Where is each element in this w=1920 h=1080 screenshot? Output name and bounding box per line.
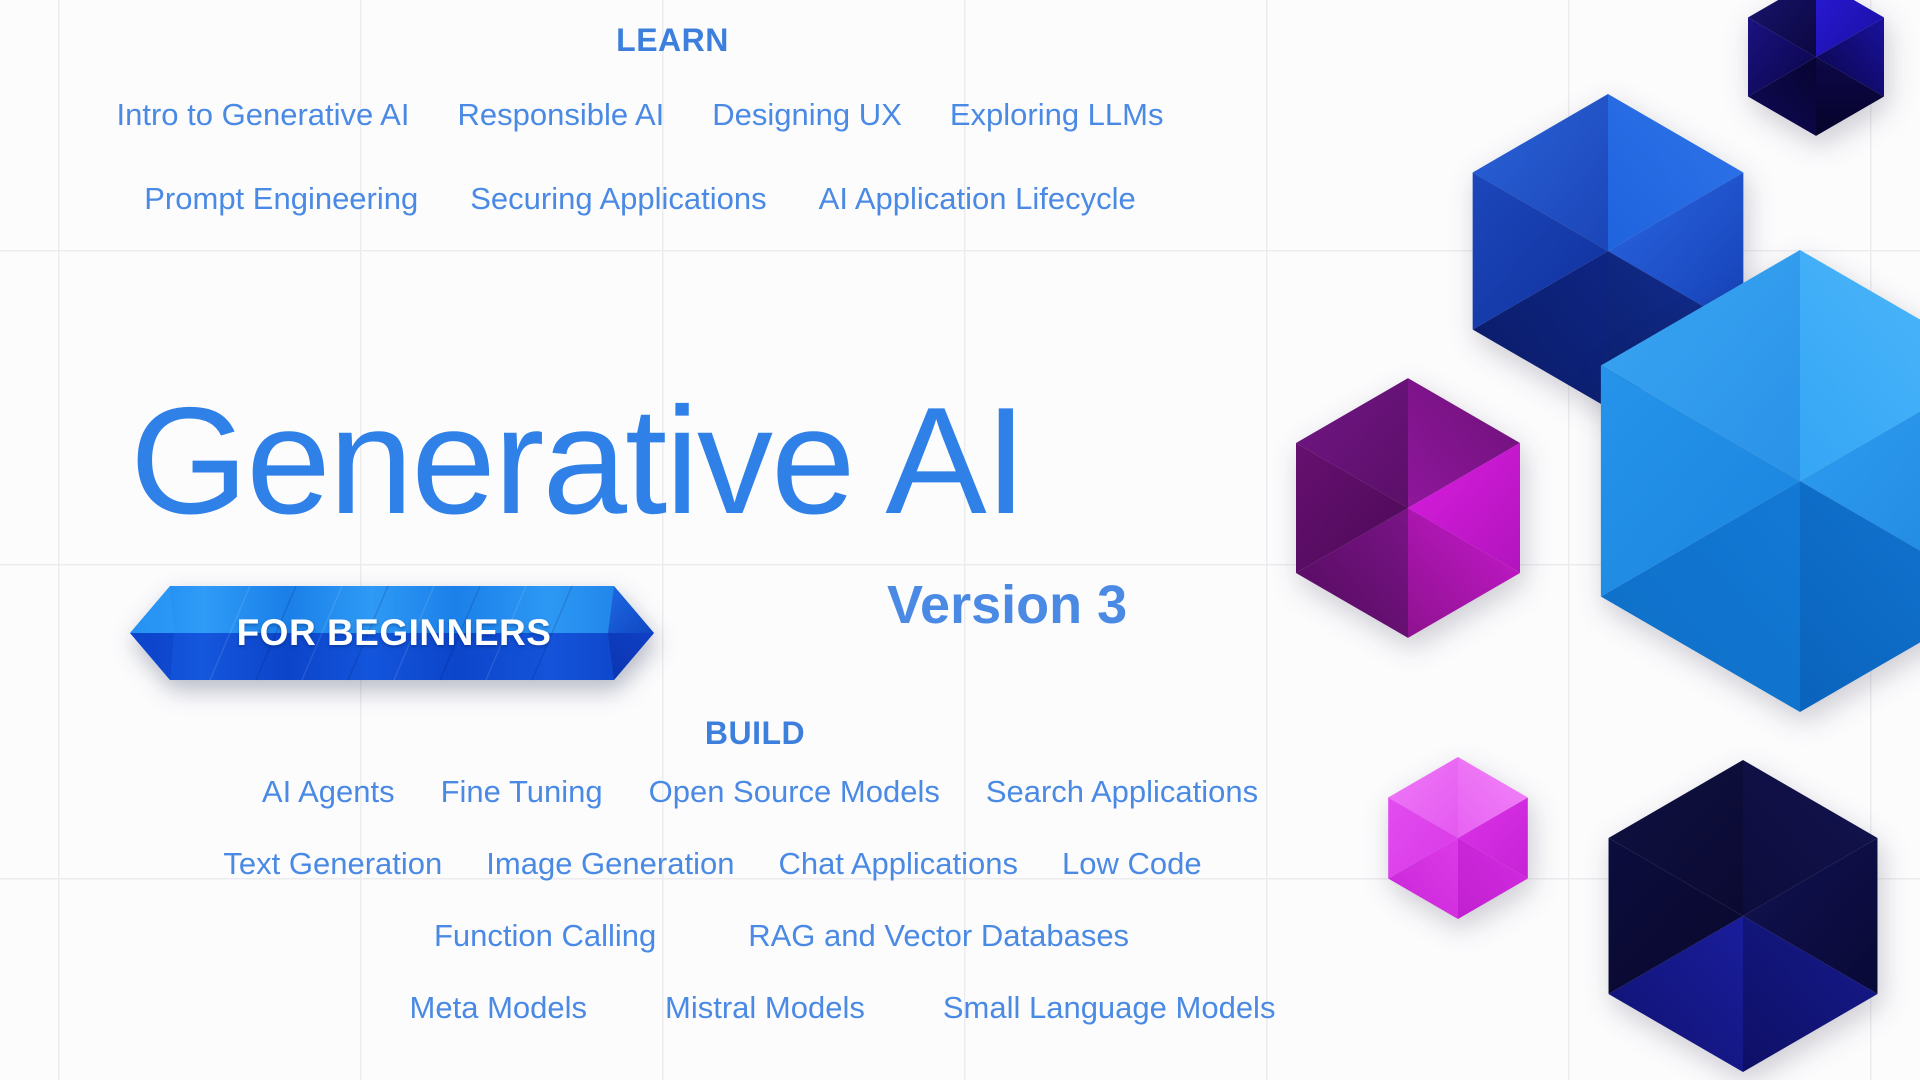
build-topic-row-4: Meta Models Mistral Models Small Languag… [0, 991, 1685, 1025]
for-beginners-ribbon: FOR BEGINNERS [130, 578, 654, 688]
build-topic-image-generation[interactable]: Image Generation [486, 847, 734, 881]
learn-topic-exploring-llms[interactable]: Exploring LLMs [950, 98, 1164, 132]
learn-topic-row-1: Intro to Generative AI Responsible AI De… [0, 98, 1280, 132]
build-topic-rag-and-vector-databases[interactable]: RAG and Vector Databases [748, 919, 1129, 953]
page-title: Generative AI [130, 385, 1025, 537]
learn-topic-responsible-ai[interactable]: Responsible AI [457, 98, 664, 132]
learn-topic-row-2: Prompt Engineering Securing Applications… [0, 182, 1280, 216]
build-topic-small-language-models[interactable]: Small Language Models [943, 991, 1276, 1025]
build-topic-function-calling[interactable]: Function Calling [434, 919, 656, 953]
version-badge: Version 3 [887, 574, 1127, 636]
build-topic-row-2: Text Generation Image Generation Chat Ap… [0, 847, 1425, 881]
learn-topic-ai-application-lifecycle[interactable]: AI Application Lifecycle [819, 182, 1136, 216]
learn-topic-intro-to-generative-ai[interactable]: Intro to Generative AI [117, 98, 410, 132]
build-section-heading: BUILD [0, 715, 1510, 752]
for-beginners-ribbon-label: FOR BEGINNERS [130, 578, 654, 688]
learn-topic-designing-ux[interactable]: Designing UX [712, 98, 902, 132]
build-topic-mistral-models[interactable]: Mistral Models [665, 991, 865, 1025]
build-topic-low-code[interactable]: Low Code [1062, 847, 1202, 881]
learn-topic-securing-applications[interactable]: Securing Applications [470, 182, 766, 216]
poster-content: LEARN Intro to Generative AI Responsible… [0, 0, 1920, 1080]
build-topic-search-applications[interactable]: Search Applications [986, 775, 1258, 809]
build-topic-chat-applications[interactable]: Chat Applications [778, 847, 1018, 881]
build-topic-fine-tuning[interactable]: Fine Tuning [441, 775, 603, 809]
poster-canvas: LEARN Intro to Generative AI Responsible… [0, 0, 1920, 1080]
build-topic-text-generation[interactable]: Text Generation [223, 847, 442, 881]
build-topic-ai-agents[interactable]: AI Agents [262, 775, 395, 809]
build-topic-meta-models[interactable]: Meta Models [410, 991, 587, 1025]
build-topic-row-3: Function Calling RAG and Vector Database… [0, 919, 1563, 953]
build-topic-row-1: AI Agents Fine Tuning Open Source Models… [0, 775, 1520, 809]
learn-topic-prompt-engineering[interactable]: Prompt Engineering [144, 182, 418, 216]
build-topic-open-source-models[interactable]: Open Source Models [649, 775, 940, 809]
learn-section-heading: LEARN [0, 22, 1345, 59]
